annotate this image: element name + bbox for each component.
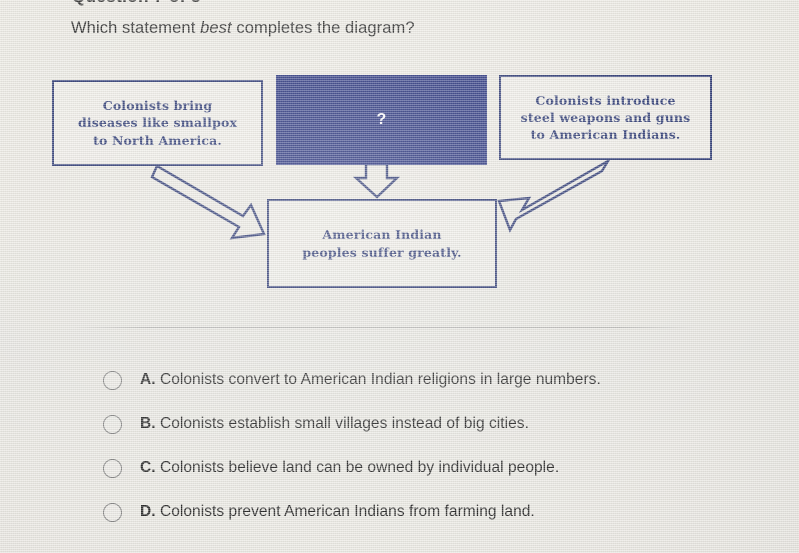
radio-button-c[interactable] xyxy=(103,459,122,478)
answer-label-c: C. Colonists believe land can be owned b… xyxy=(140,459,559,477)
answer-body-c: Colonists believe land can be owned by i… xyxy=(160,459,559,476)
answer-letter-d: D. xyxy=(140,503,156,520)
diagram-node-weapons-text: Colonists introducesteel weapons and gun… xyxy=(521,92,691,144)
diagram-node-weapons: Colonists introducesteel weapons and gun… xyxy=(499,75,712,160)
block-arrow-down-left-icon xyxy=(499,161,608,230)
diagram-node-suffer: American Indianpeoples suffer greatly. xyxy=(267,199,497,288)
answer-option-c[interactable]: C. Colonists believe land can be owned b… xyxy=(103,446,753,490)
answer-label-a: A. Colonists convert to American Indian … xyxy=(140,371,601,389)
answer-options-list: A. Colonists convert to American Indian … xyxy=(103,358,753,534)
radio-button-a[interactable] xyxy=(103,371,122,390)
answer-body-d: Colonists prevent American Indians from … xyxy=(160,503,535,520)
answer-label-b: B. Colonists establish small villages in… xyxy=(140,415,529,433)
answer-option-b[interactable]: B. Colonists establish small villages in… xyxy=(103,402,753,446)
block-arrow-down-icon xyxy=(356,164,397,197)
answer-body-b: Colonists establish small villages inste… xyxy=(160,415,529,432)
section-divider xyxy=(74,327,694,328)
diagram-node-unknown: ? xyxy=(276,75,487,165)
answer-letter-a: A. xyxy=(140,371,156,388)
diagram-node-disease-text: Colonists bringdiseases like smallpoxto … xyxy=(78,97,237,149)
radio-button-b[interactable] xyxy=(103,415,122,434)
answer-body-a: Colonists convert to American Indian rel… xyxy=(160,371,601,388)
answer-letter-c: C. xyxy=(140,459,156,476)
diagram-node-disease: Colonists bringdiseases like smallpoxto … xyxy=(52,80,263,166)
question-mark-placeholder: ? xyxy=(377,109,387,131)
answer-option-a[interactable]: A. Colonists convert to American Indian … xyxy=(103,358,753,402)
block-arrow-down-right-icon xyxy=(152,166,264,238)
answer-option-d[interactable]: D. Colonists prevent American Indians fr… xyxy=(103,490,753,534)
answer-label-d: D. Colonists prevent American Indians fr… xyxy=(140,503,535,521)
quiz-screen: Question 7 of 8 Which statement best com… xyxy=(0,0,799,553)
answer-letter-b: B. xyxy=(140,415,156,432)
diagram-node-suffer-text: American Indianpeoples suffer greatly. xyxy=(302,226,461,261)
radio-button-d[interactable] xyxy=(103,503,122,522)
